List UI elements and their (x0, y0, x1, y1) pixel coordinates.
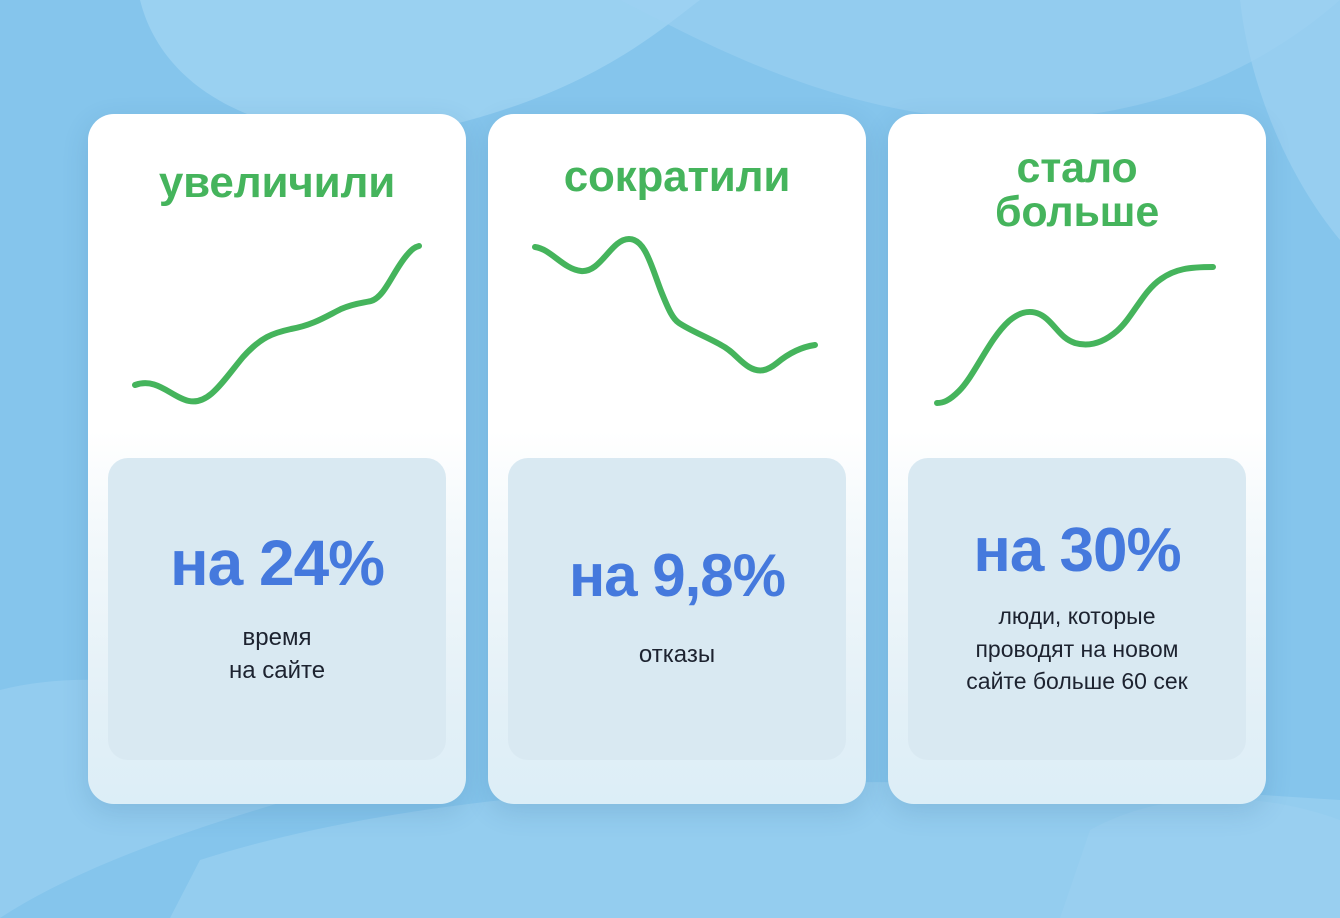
stat-caption: люди, которые проводят на новом сайте бо… (966, 600, 1187, 698)
stat-box: на 9,8% отказы (508, 458, 846, 760)
stat-value: на 9,8% (569, 546, 785, 606)
card-title: стало больше (981, 146, 1173, 235)
stat-box: на 24% время на сайте (108, 458, 446, 760)
stat-box: на 30% люди, которые проводят на новом с… (908, 458, 1246, 760)
sparkline-chart-rising (88, 227, 466, 417)
stat-card-reduced: сократили на 9,8% отказы (488, 114, 866, 804)
stat-value: на 24% (170, 531, 384, 595)
card-title: увеличили (145, 160, 409, 205)
stat-card-increased: увеличили на 24% время на сайте (88, 114, 466, 804)
rising-trend-line-icon (127, 237, 427, 407)
stats-card-row: увеличили на 24% время на сайте сократил… (88, 114, 1266, 804)
falling-trend-line-icon (527, 225, 827, 395)
stat-caption: время на сайте (229, 621, 325, 687)
stat-value: на 30% (973, 520, 1180, 582)
wavy-rising-trend-line-icon (927, 255, 1227, 415)
stat-caption: отказы (639, 638, 715, 671)
sparkline-chart-wavy-rising (888, 245, 1266, 425)
card-title: сократили (550, 154, 805, 199)
sparkline-chart-falling (488, 215, 866, 405)
stat-card-more-users: стало больше на 30% люди, которые провод… (888, 114, 1266, 804)
